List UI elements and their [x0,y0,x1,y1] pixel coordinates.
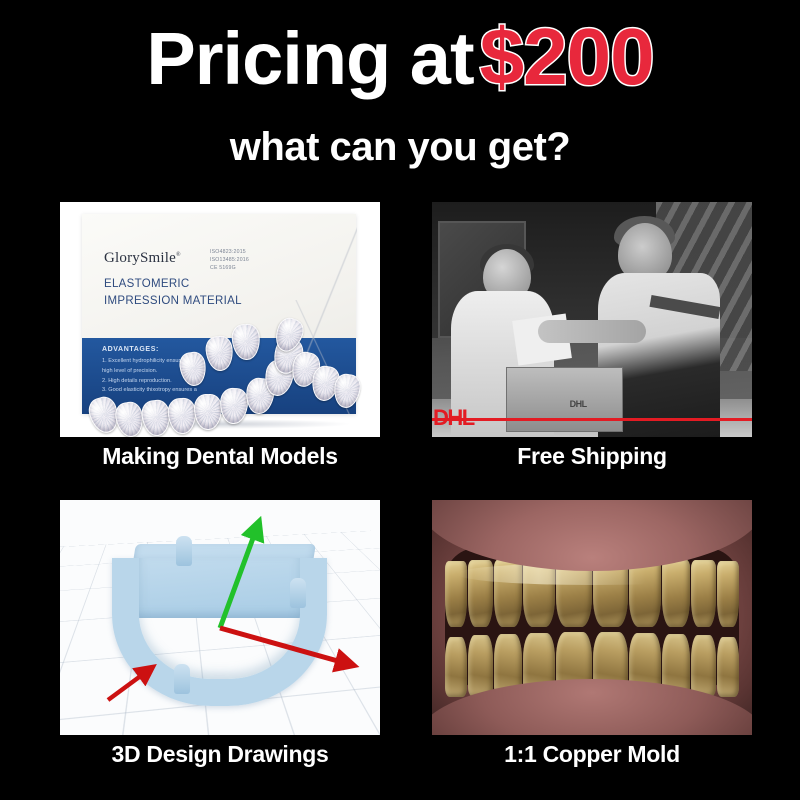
gold-tooth [662,559,690,627]
caption-free-shipping: Free Shipping [412,443,772,470]
handshake-arms [538,320,647,344]
shipping-photo: DHL [432,202,752,437]
gold-tooth [691,635,716,697]
gold-tooth [717,561,739,627]
feature-cell-making-dental-models: GlorySmile® ISO4823:2015 ISO13485:2016 C… [40,200,400,490]
page-title: Pricing at$200 [0,14,800,100]
feature-grid: GlorySmile® ISO4823:2015 ISO13485:2016 C… [0,200,800,800]
grillz-tooth [167,397,197,434]
axis-right-arrow [220,628,345,663]
feature-cell-3d-design-drawings: 3D Design Drawings [40,498,400,788]
grillz-tooth [140,399,172,437]
dhl-red-bar [432,418,752,421]
feature-cell-free-shipping: DHL DHL Free Shipping [412,200,772,490]
thumbnail-copper-mold [432,500,752,735]
cad-viewport [60,500,380,735]
gold-tooth [445,637,467,698]
thumbnail-making-dental-models: GlorySmile® ISO4823:2015 ISO13485:2016 C… [60,202,380,437]
product-box-photo: GlorySmile® ISO4823:2015 ISO13485:2016 C… [60,202,380,437]
thumbnail-free-shipping: DHL DHL [432,202,752,437]
caption-copper-mold: 1:1 Copper Mold [412,741,772,768]
headline-subtitle: what can you get? [0,125,800,170]
grillz-tooth [332,372,362,409]
caption-making-dental-models: Making Dental Models [40,443,400,470]
caption-3d-design-drawings: 3D Design Drawings [40,741,400,768]
gold-tooth [468,560,493,627]
crate-dhl-logo: DHL [570,399,587,409]
axis-pointer-arrow [108,672,146,700]
gold-tooth [445,561,467,627]
dhl-logo: DHL [433,405,474,431]
grillz-tooth [178,350,208,387]
gold-tooth [468,635,493,697]
thumbnail-3d-design [60,500,380,735]
gold-tooth [717,637,739,698]
grillz-photo [432,500,752,735]
gold-tooth [691,560,716,627]
shipping-crate [506,367,623,432]
headline-price: $200 [480,12,654,101]
grillz-tooth [231,323,261,361]
grillz-tooth [113,400,146,437]
poster-canvas: Pricing at$200 what can you get? GlorySm… [0,0,800,800]
grillz-tooth [219,387,249,424]
grillz-tooth [194,394,222,430]
gold-tooth [494,559,522,627]
iced-grillz-arch [60,202,380,437]
feature-cell-copper-mold: 1:1 Copper Mold [412,498,772,788]
headline-prefix: Pricing at [146,17,473,100]
grillz-tooth [204,335,235,373]
axis-up-arrow [220,530,256,628]
axis-gizmo [60,500,380,735]
